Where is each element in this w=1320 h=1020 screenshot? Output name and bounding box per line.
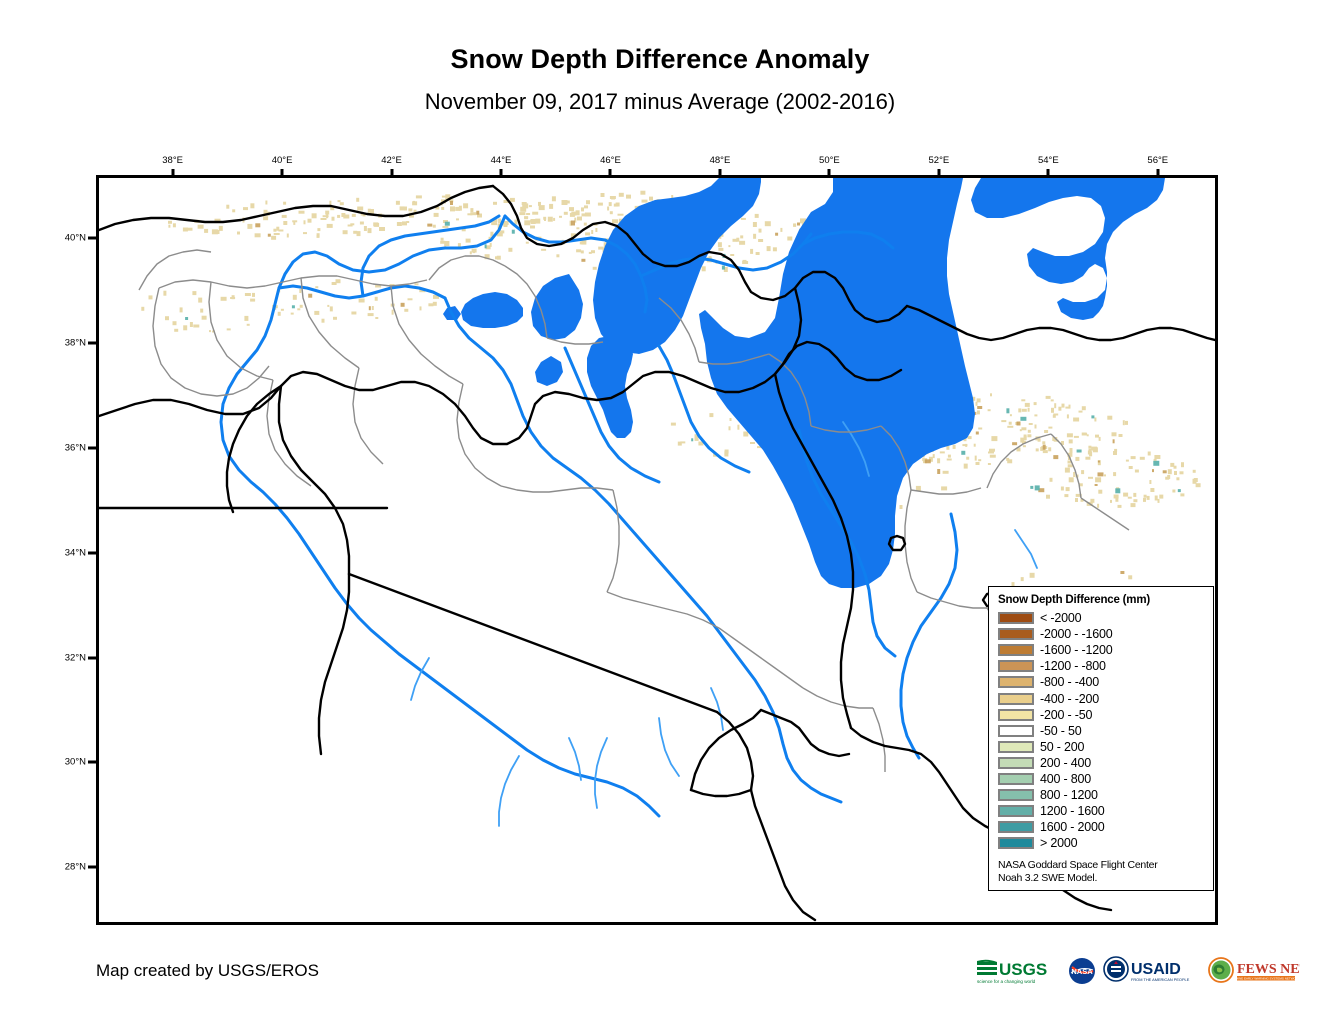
legend-row[interactable]: -1600 - -1200: [998, 642, 1205, 658]
lat-tick-label: 30°N: [48, 757, 86, 768]
legend-source-line2: Noah 3.2 SWE Model.: [998, 872, 1205, 885]
legend-swatch: [998, 837, 1034, 849]
legend-row[interactable]: 800 - 1200: [998, 787, 1205, 803]
legend-row[interactable]: -800 - -400: [998, 674, 1205, 690]
legend-label: -50 - 50: [1040, 724, 1081, 738]
svg-text:NASA: NASA: [1071, 967, 1093, 976]
legend-row[interactable]: -400 - -200: [998, 690, 1205, 706]
legend-label: 400 - 800: [1040, 772, 1091, 786]
legend-source: NASA Goddard Space Flight Center Noah 3.…: [998, 859, 1205, 884]
legend-swatch: [998, 789, 1034, 801]
legend-label: 50 - 200: [1040, 740, 1084, 754]
legend-swatch: [998, 693, 1034, 705]
usgs-logo[interactable]: USGS science for a changing world: [975, 956, 1061, 986]
lon-tick-label: 50°E: [819, 155, 840, 166]
legend-label: -1200 - -800: [1040, 659, 1106, 673]
legend-label: -2000 - -1600: [1040, 627, 1112, 641]
legend-swatch: [998, 805, 1034, 817]
legend-swatch: [998, 612, 1034, 624]
legend-title: Snow Depth Difference (mm): [998, 594, 1205, 606]
legend-row[interactable]: 1200 - 1600: [998, 803, 1205, 819]
page-subtitle: November 09, 2017 minus Average (2002-20…: [0, 89, 1320, 115]
legend-row[interactable]: 50 - 200: [998, 739, 1205, 755]
legend-row[interactable]: 200 - 400: [998, 755, 1205, 771]
legend-label: -800 - -400: [1040, 675, 1099, 689]
legend-class-list: < -2000-2000 - -1600-1600 - -1200-1200 -…: [998, 610, 1205, 851]
lat-tick-label: 32°N: [48, 652, 86, 663]
legend-label: -200 - -50: [1040, 708, 1092, 722]
legend-swatch: [998, 741, 1034, 753]
legend-row[interactable]: -50 - 50: [998, 723, 1205, 739]
svg-text:FEWS NET: FEWS NET: [1237, 962, 1300, 977]
legend-swatch: [998, 773, 1034, 785]
lon-tick-label: 54°E: [1038, 155, 1059, 166]
map-credit: Map created by USGS/EROS: [96, 961, 319, 981]
legend-label: < -2000: [1040, 611, 1081, 625]
lon-tick-label: 52°E: [929, 155, 950, 166]
legend-swatch: [998, 644, 1034, 656]
svg-text:FAMINE EARLY WARNING SYSTEMS N: FAMINE EARLY WARNING SYSTEMS NETWORK: [1232, 977, 1300, 981]
legend-row[interactable]: 400 - 800: [998, 771, 1205, 787]
lon-tick-label: 46°E: [600, 155, 621, 166]
svg-text:FROM THE AMERICAN PEOPLE: FROM THE AMERICAN PEOPLE: [1131, 977, 1190, 982]
lon-tick-label: 42°E: [381, 155, 402, 166]
svg-text:USAID: USAID: [1131, 961, 1181, 978]
legend-label: 1600 - 2000: [1040, 820, 1105, 834]
legend-swatch: [998, 709, 1034, 721]
legend-row[interactable]: 1600 - 2000: [998, 819, 1205, 835]
lon-tick-label: 56°E: [1147, 155, 1168, 166]
legend-swatch: [998, 725, 1034, 737]
svg-text:USGS: USGS: [999, 960, 1047, 979]
legend-label: -1600 - -1200: [1040, 643, 1112, 657]
legend-swatch: [998, 628, 1034, 640]
lat-tick-label: 36°N: [48, 442, 86, 453]
legend-swatch: [998, 821, 1034, 833]
map-legend[interactable]: Snow Depth Difference (mm) < -2000-2000 …: [988, 586, 1214, 891]
legend-row[interactable]: -1200 - -800: [998, 658, 1205, 674]
legend-label: -400 - -200: [1040, 692, 1099, 706]
lon-tick-label: 48°E: [710, 155, 731, 166]
legend-swatch: [998, 676, 1034, 688]
legend-swatch: [998, 660, 1034, 672]
lat-tick-label: 40°N: [48, 232, 86, 243]
svg-text:science for a changing world: science for a changing world: [977, 979, 1036, 984]
legend-label: > 2000: [1040, 836, 1077, 850]
legend-row[interactable]: > 2000: [998, 835, 1205, 851]
usaid-logo[interactable]: USAID FROM THE AMERICAN PEOPLE: [1103, 956, 1201, 986]
lat-tick-label: 28°N: [48, 862, 86, 873]
lat-tick-label: 38°N: [48, 337, 86, 348]
legend-source-line1: NASA Goddard Space Flight Center: [998, 859, 1205, 872]
logo-bar: USGS science for a changing world NASA U…: [975, 954, 1300, 988]
title-block: Snow Depth Difference Anomaly November 0…: [0, 0, 1320, 115]
legend-row[interactable]: < -2000: [998, 610, 1205, 626]
legend-label: 800 - 1200: [1040, 788, 1098, 802]
lon-tick-label: 38°E: [162, 155, 183, 166]
legend-row[interactable]: -200 - -50: [998, 707, 1205, 723]
lon-tick-label: 40°E: [272, 155, 293, 166]
nasa-logo[interactable]: NASA: [1068, 957, 1096, 985]
legend-swatch: [998, 757, 1034, 769]
legend-label: 1200 - 1600: [1040, 804, 1105, 818]
legend-row[interactable]: -2000 - -1600: [998, 626, 1205, 642]
legend-label: 200 - 400: [1040, 756, 1091, 770]
page-title: Snow Depth Difference Anomaly: [0, 44, 1320, 75]
lat-tick-label: 34°N: [48, 547, 86, 558]
lon-tick-label: 44°E: [491, 155, 512, 166]
fewsnet-logo[interactable]: FEWS NET FAMINE EARLY WARNING SYSTEMS NE…: [1208, 956, 1300, 986]
